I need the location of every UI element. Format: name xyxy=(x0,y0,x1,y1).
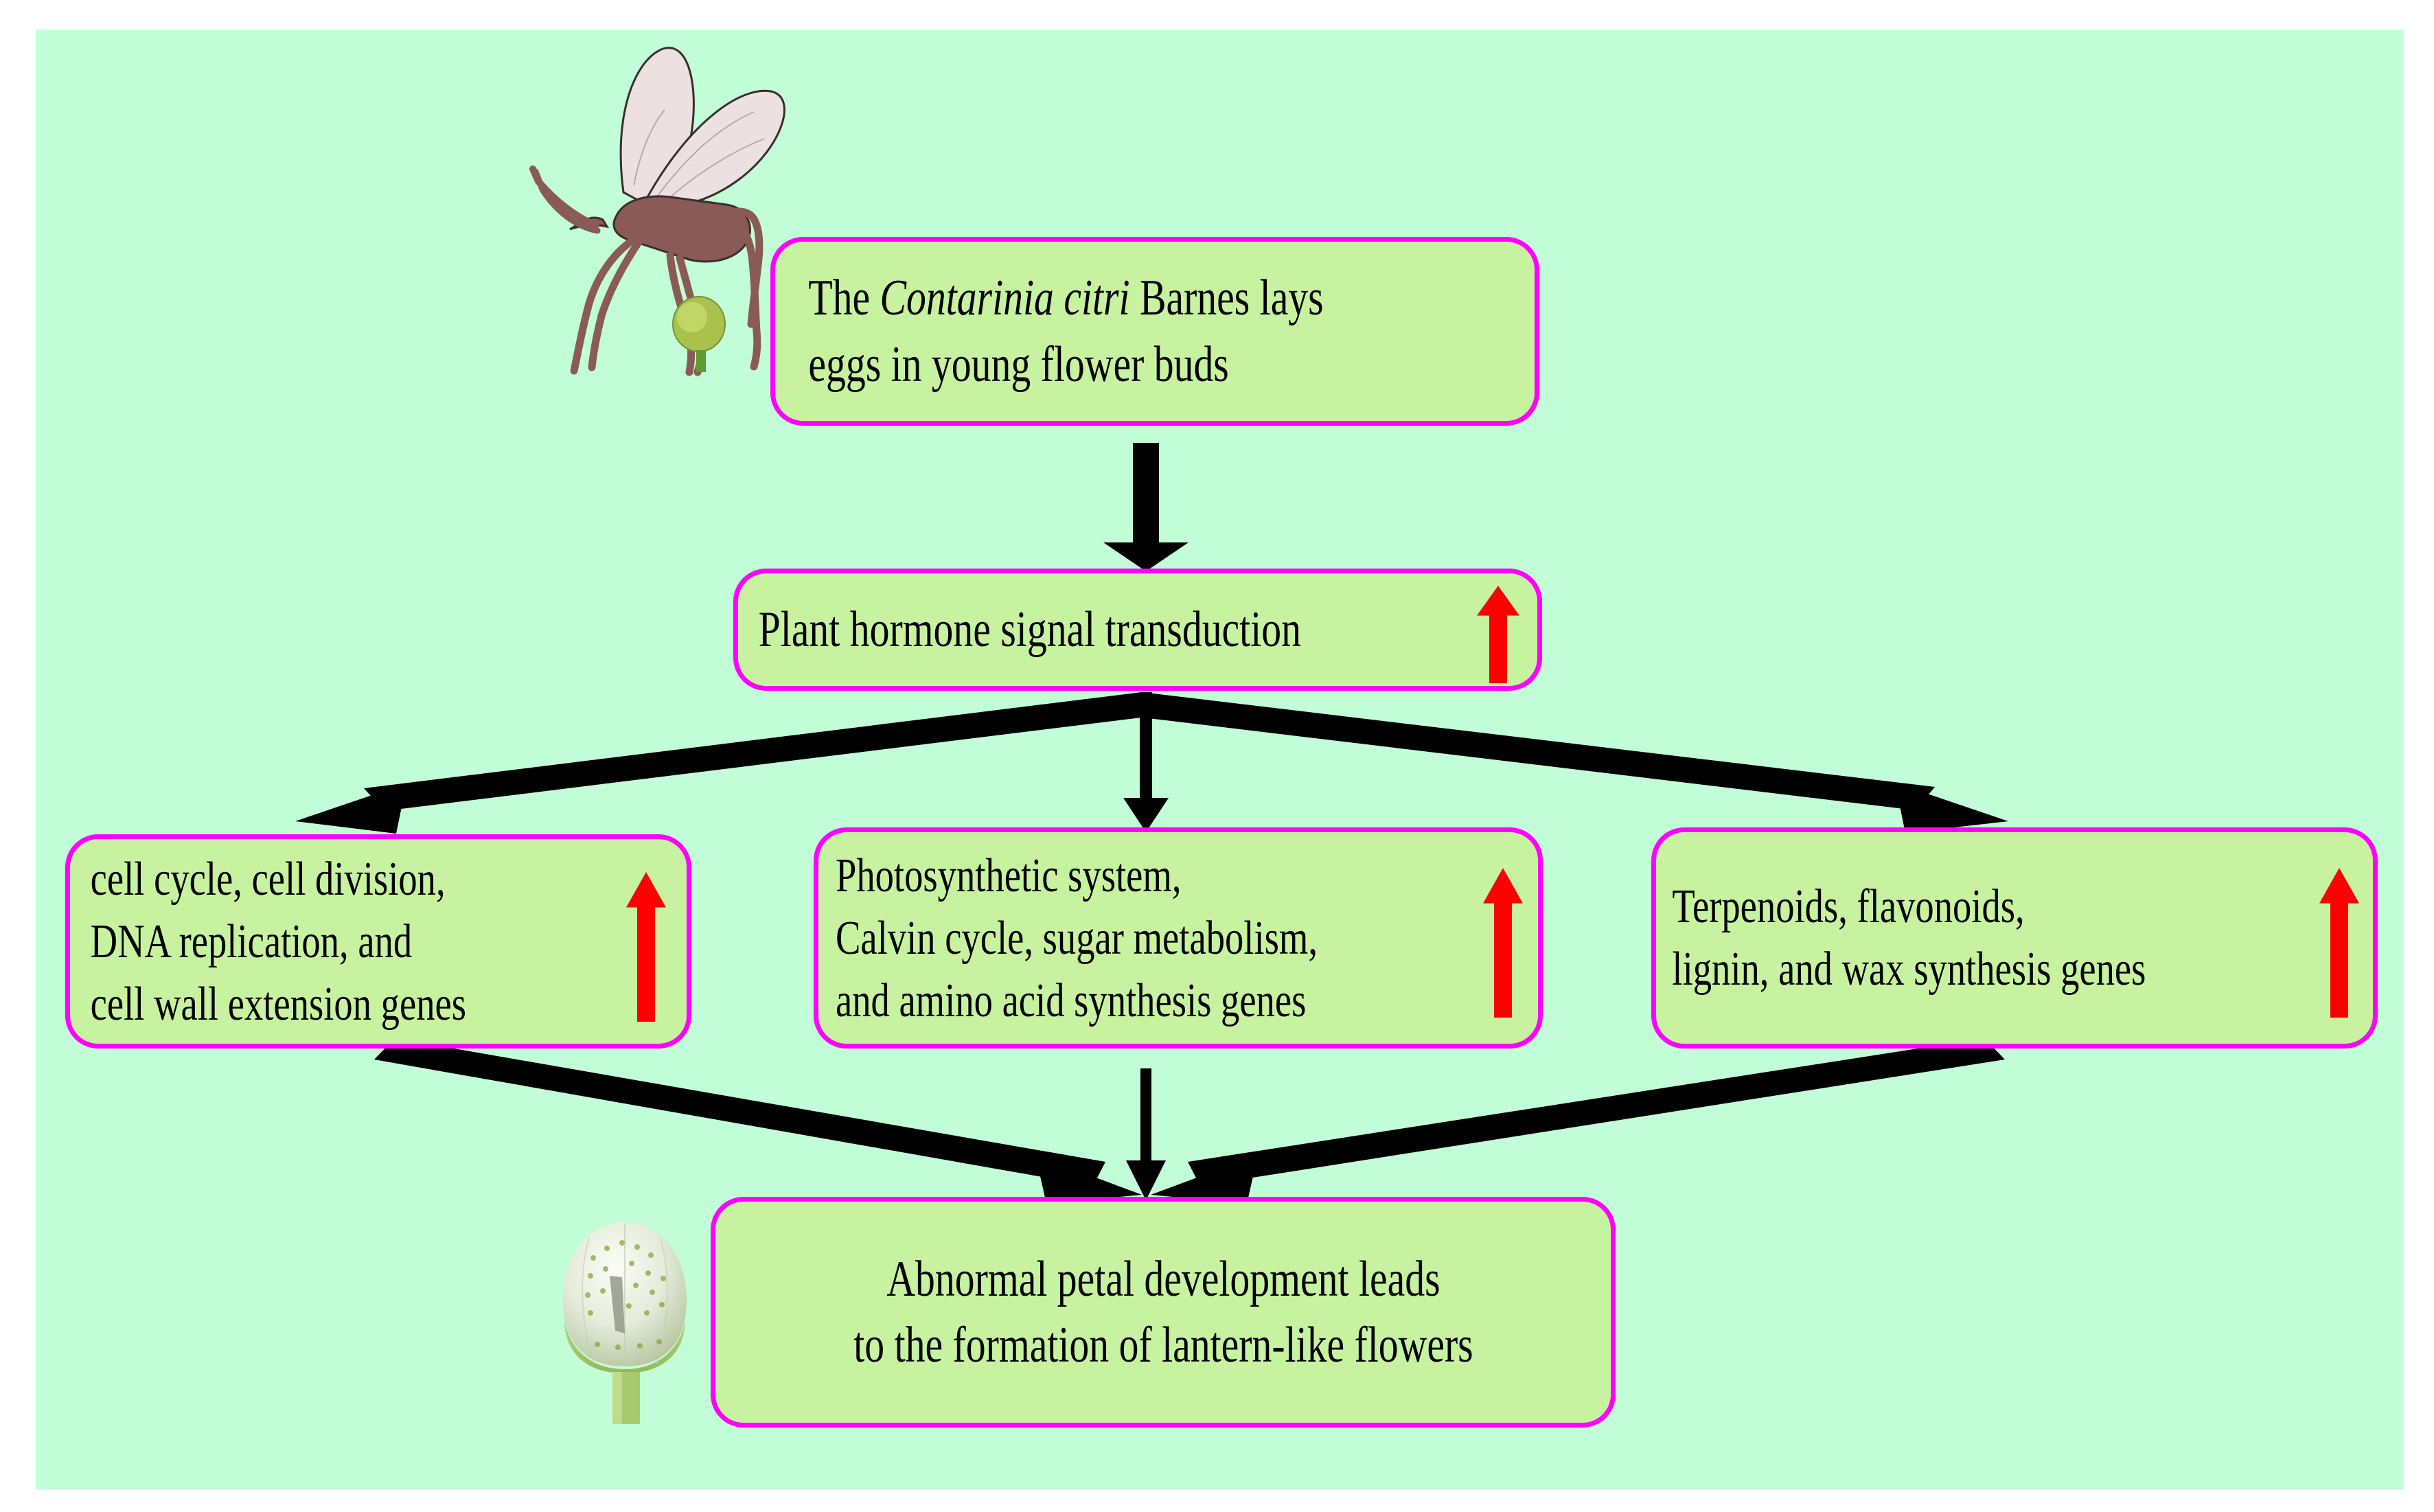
node-inoculation-species: Contarinia citri xyxy=(880,270,1130,326)
up-arrow-cell-cycle xyxy=(626,872,666,1022)
node-cell-cycle-text: cell cycle, cell division, DNA replicati… xyxy=(70,848,466,1035)
node-inoculation-text: The Contarinia citri Barnes lays eggs in… xyxy=(775,265,1324,397)
node-outcome[interactable]: Abnormal petal development leads to the … xyxy=(711,1197,1616,1428)
midge-antennae xyxy=(533,169,597,231)
node-cell-cycle-genes[interactable]: cell cycle, cell division, DNA replicati… xyxy=(65,834,691,1049)
edge-hormone-to-terpenoids xyxy=(1132,692,2008,833)
node-hormone-signal-transduction[interactable]: Plant hormone signal transduction xyxy=(733,569,1542,691)
edge-terpenoids-to-outcome xyxy=(1151,1038,2005,1204)
node-photosynthesis-genes[interactable]: Photosynthetic system, Calvin cycle, sug… xyxy=(814,827,1543,1049)
up-arrow-terpenoids xyxy=(2319,868,2359,1018)
edge-cell-cycle-to-outcome xyxy=(374,1038,1142,1204)
node-inoculation-prefix: The xyxy=(808,270,880,326)
node-photosynthesis-text: Photosynthetic system, Calvin cycle, sug… xyxy=(818,845,1318,1032)
node-terpenoid-text: Terpenoids, flavonoids, lignin, and wax … xyxy=(1656,875,2146,1000)
node-outcome-text: Abnormal petal development leads to the … xyxy=(853,1246,1473,1378)
edge-hormone-to-cell-cycle xyxy=(295,692,1152,834)
edge-inoculation-to-hormone xyxy=(1103,443,1189,571)
node-hormone-text: Plant hormone signal transduction xyxy=(738,597,1301,663)
up-arrow-photosynthesis xyxy=(1483,868,1523,1018)
midge-wings xyxy=(621,48,784,207)
figure-canvas: The Contarinia citri Barnes lays eggs in… xyxy=(0,0,2434,1512)
flower-bud-shape xyxy=(563,1222,687,1424)
node-inoculation[interactable]: The Contarinia citri Barnes lays eggs in… xyxy=(770,237,1539,426)
lantern-flower-bud-image xyxy=(522,1210,728,1436)
node-terpenoid-genes[interactable]: Terpenoids, flavonoids, lignin, and wax … xyxy=(1651,827,2378,1049)
midge-flower-bud-icon xyxy=(673,297,725,372)
edge-photosynthesis-to-outcome xyxy=(1126,1068,1166,1200)
up-arrow-hormone xyxy=(1477,586,1519,683)
